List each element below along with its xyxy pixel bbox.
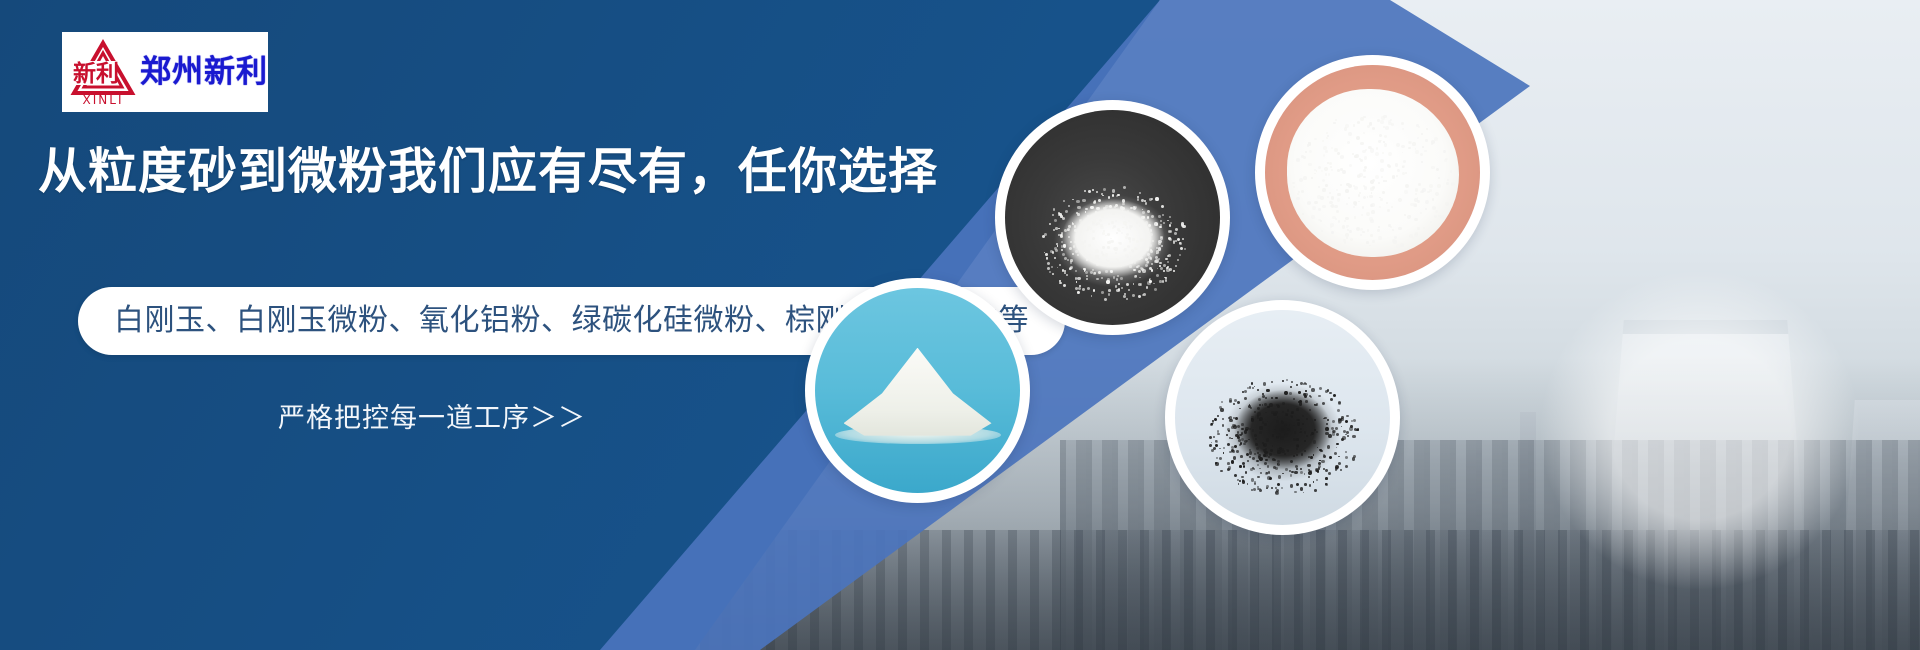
powder-speckles	[1265, 65, 1480, 280]
grit-speckles	[1005, 110, 1220, 325]
product-image-white-fused-alumina-grit	[995, 100, 1230, 335]
company-logo[interactable]: 新利 XINLI 郑州新利	[62, 32, 268, 112]
chevron-right-icon: ＞＞	[530, 403, 586, 434]
product-image-white-alumina-micropowder	[1255, 55, 1490, 290]
promo-banner: 新利 XINLI 郑州新利 从粒度砂到微粉我们应有尽有，任你选择 白刚玉、白刚玉…	[0, 0, 1920, 650]
smokestack-icon	[1520, 412, 1536, 590]
smokestack-icon	[1466, 450, 1482, 590]
svg-text:新利: 新利	[73, 60, 119, 87]
product-image-black-silicon-carbide-grit	[1165, 300, 1400, 535]
tagline-text: 严格把控每一道工序	[278, 403, 530, 434]
cooling-tower-secondary-icon	[1838, 400, 1920, 650]
tagline-link[interactable]: 严格把控每一道工序＞＞	[278, 396, 586, 435]
headline: 从粒度砂到微粉我们应有尽有，任你选择	[38, 143, 938, 201]
svg-text:XINLI: XINLI	[83, 93, 124, 107]
logo-company-name: 郑州新利	[140, 57, 268, 88]
powder-cone	[844, 348, 992, 436]
black-grit-speckles	[1175, 310, 1390, 525]
product-image-white-powder-cone	[805, 278, 1030, 503]
cooling-tower-icon	[1598, 320, 1813, 650]
xinli-triangle-icon: 新利 XINLI	[70, 37, 136, 107]
